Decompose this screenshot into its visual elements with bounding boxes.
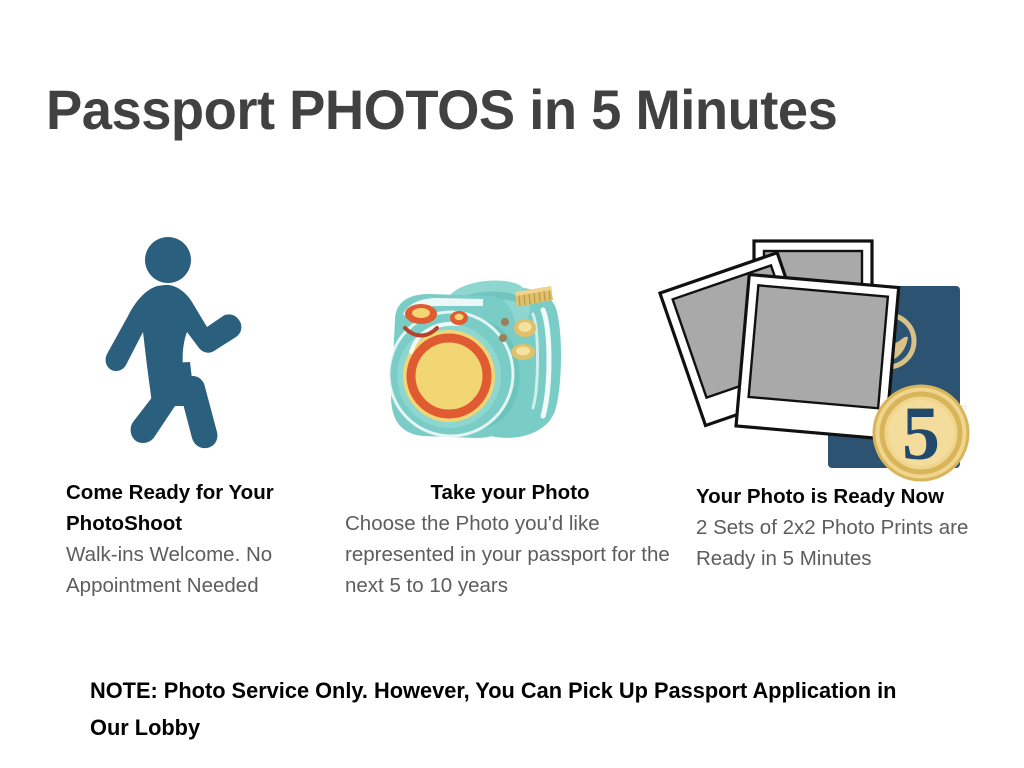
step-1-artwork: [60, 236, 340, 476]
step-1-heading: Come Ready for Your PhotoShoot: [66, 477, 338, 539]
five-minute-badge: 5: [874, 386, 968, 480]
walking-person-icon: [95, 236, 245, 456]
step-3-heading: Your Photo is Ready Now: [696, 481, 1016, 512]
slide-canvas: Passport PHOTOS in 5 Minutes: [0, 0, 1024, 768]
photo-print-front: [736, 275, 899, 439]
step-3-body: 2 Sets of 2x2 Photo Prints are Ready in …: [696, 512, 1011, 574]
step-2-artwork: [345, 236, 675, 476]
footer-note: NOTE: Photo Service Only. However, You C…: [90, 672, 912, 746]
camera-icon: [365, 266, 575, 471]
passport-photos-icon: PASSPORT: [650, 231, 990, 496]
step-column-2: Take your Photo Choose the Photo you'd l…: [345, 236, 675, 476]
step-column-1: Come Ready for Your PhotoShoot Walk-ins …: [60, 236, 340, 476]
step-2-heading: Take your Photo: [345, 477, 675, 508]
step-3-artwork: PASSPORT: [690, 236, 1010, 476]
page-title: Passport PHOTOS in 5 Minutes: [46, 78, 958, 142]
step-column-3: PASSPORT: [690, 236, 1010, 476]
badge-number-text: 5: [902, 392, 940, 476]
step-2-body: Choose the Photo you'd like represented …: [345, 508, 677, 601]
step-1-body: Walk-ins Welcome. No Appointment Needed: [66, 539, 338, 601]
